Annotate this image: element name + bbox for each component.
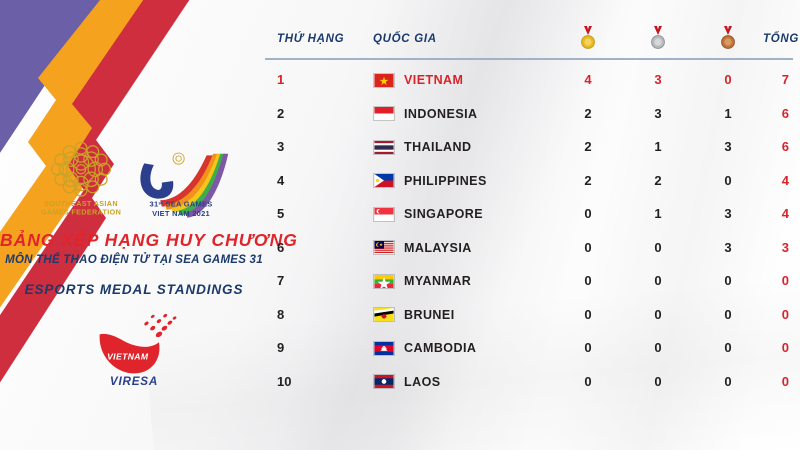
rank-value: 1: [277, 72, 284, 87]
flag-brunei: [373, 307, 395, 322]
gold-count: 2: [584, 106, 591, 121]
flag-thailand: [373, 140, 395, 155]
total-count: 0: [782, 307, 789, 322]
nation-name: MALAYSIA: [404, 241, 472, 255]
table-row: 2INDONESIA2316: [265, 97, 793, 131]
flag-singapore: [373, 207, 395, 222]
viresa-logo: VIETNAM VIRESA: [86, 311, 182, 389]
total-count: 0: [782, 340, 789, 355]
gold-count: 2: [584, 173, 591, 188]
gold-count: 2: [584, 139, 591, 154]
silver-count: 0: [654, 307, 661, 322]
flag-philippines: [373, 173, 395, 188]
total-count: 4: [782, 206, 789, 221]
rank-value: 8: [277, 307, 284, 322]
flag-laos: [373, 374, 395, 389]
bronze-count: 0: [724, 374, 731, 389]
column-header-rank: THỨ HẠNG: [277, 33, 344, 45]
rank-value: 7: [277, 273, 284, 288]
table-row: 5SINGAPORE0134: [265, 198, 793, 232]
total-count: 6: [782, 106, 789, 121]
total-count: 0: [782, 374, 789, 389]
nation-name: CAMBODIA: [404, 341, 476, 355]
table-row: 6MALAYSIA0033: [265, 231, 793, 265]
gold-count: 4: [584, 72, 591, 87]
table-row: 4PHILIPPINES2204: [265, 164, 793, 198]
gold-count: 0: [584, 273, 591, 288]
total-count: 0: [782, 273, 789, 288]
table-row: 8BRUNEI0000: [265, 298, 793, 332]
silver-count: 2: [654, 173, 661, 188]
total-count: 6: [782, 139, 789, 154]
seagf-logo: SOUTHEAST ASIAN GAMES FEDERATION: [39, 139, 123, 223]
flag-cambodia: [373, 341, 395, 356]
medal-standings-graphic: SOUTHEAST ASIAN GAMES FEDERATION: [0, 0, 800, 450]
silver-count: 1: [654, 206, 661, 221]
flag-vietnam: [373, 73, 395, 88]
silver-medal-icon: [648, 25, 668, 51]
nation-name: PHILIPPINES: [404, 174, 487, 188]
silver-count: 1: [654, 139, 661, 154]
subtitle-vietnamese: MÔN THỂ THAO ĐIỆN TỬ TẠI SEA GAMES 31: [0, 254, 268, 266]
viresa-name: VIRESA: [110, 375, 158, 388]
rank-value: 9: [277, 340, 284, 355]
sea-games-31-line2: VIET NAM 2021: [152, 209, 210, 218]
viresa-mark-text: VIETNAM: [107, 351, 149, 361]
bronze-count: 0: [724, 173, 731, 188]
gold-count: 0: [584, 374, 591, 389]
silver-count: 0: [654, 340, 661, 355]
nation-name: SINGAPORE: [404, 207, 483, 221]
bronze-medal-icon: [718, 25, 738, 51]
table-row: 1VIETNAM4307: [265, 64, 793, 98]
sea-games-31-line1: 31st SEA GAMES: [150, 200, 213, 209]
nation-name: VIETNAM: [404, 73, 463, 87]
rank-value: 5: [277, 206, 284, 221]
rank-value: 4: [277, 173, 284, 188]
bronze-count: 0: [724, 273, 731, 288]
total-count: 7: [782, 72, 789, 87]
seagf-logo-line2: GAMES FEDERATION: [41, 208, 121, 217]
flag-indonesia: [373, 106, 395, 121]
flag-malaysia: [373, 240, 395, 255]
table-row: 7MYANMAR0000: [265, 265, 793, 299]
bronze-count: 1: [724, 106, 731, 121]
silver-count: 0: [654, 273, 661, 288]
bronze-count: 3: [724, 139, 731, 154]
header-divider: [265, 58, 793, 60]
silver-count: 3: [654, 106, 661, 121]
rank-value: 3: [277, 139, 284, 154]
table-body: 1VIETNAM43072INDONESIA23163THAILAND21364…: [265, 64, 793, 399]
gold-count: 0: [584, 307, 591, 322]
total-count: 3: [782, 240, 789, 255]
silver-count: 0: [654, 240, 661, 255]
table-row: 9CAMBODIA0000: [265, 332, 793, 366]
rank-value: 10: [277, 374, 291, 389]
rank-value: 6: [277, 240, 284, 255]
rank-value: 2: [277, 106, 284, 121]
table-row: 3THAILAND2136: [265, 131, 793, 165]
nation-name: THAILAND: [404, 140, 471, 154]
viresa-logo-wrap: VIETNAM VIRESA: [0, 311, 268, 394]
nation-name: MYANMAR: [404, 274, 471, 288]
bronze-count: 3: [724, 206, 731, 221]
table-header-row: THỨ HẠNG QUỐC GIA: [265, 18, 793, 58]
bronze-count: 3: [724, 240, 731, 255]
bronze-count: 0: [724, 72, 731, 87]
flag-myanmar: [373, 274, 395, 289]
nation-name: INDONESIA: [404, 107, 478, 121]
title-vietnamese: BẢNG XẾP HẠNG HUY CHƯƠNG: [0, 230, 268, 251]
silver-count: 0: [654, 374, 661, 389]
gold-count: 0: [584, 206, 591, 221]
bronze-count: 0: [724, 340, 731, 355]
sea-games-31-logo: 31st SEA GAMES VIET NAM 2021: [133, 140, 229, 222]
table-row: 10LAOS0000: [265, 365, 793, 399]
total-count: 4: [782, 173, 789, 188]
gold-count: 0: [584, 240, 591, 255]
bronze-count: 0: [724, 307, 731, 322]
nation-name: BRUNEI: [404, 308, 455, 322]
column-header-nation: QUỐC GIA: [373, 33, 437, 45]
silver-count: 3: [654, 72, 661, 87]
nation-name: LAOS: [404, 375, 441, 389]
medal-standings-table: THỨ HẠNG QUỐC GIA: [265, 18, 793, 399]
logo-row: SOUTHEAST ASIAN GAMES FEDERATION: [0, 138, 268, 224]
title-english: ESPORTS MEDAL STANDINGS: [0, 282, 268, 297]
column-header-total: TỔNG: [763, 33, 799, 45]
gold-count: 0: [584, 340, 591, 355]
brand-panel: SOUTHEAST ASIAN GAMES FEDERATION: [0, 138, 268, 394]
gold-medal-icon: [578, 25, 598, 51]
